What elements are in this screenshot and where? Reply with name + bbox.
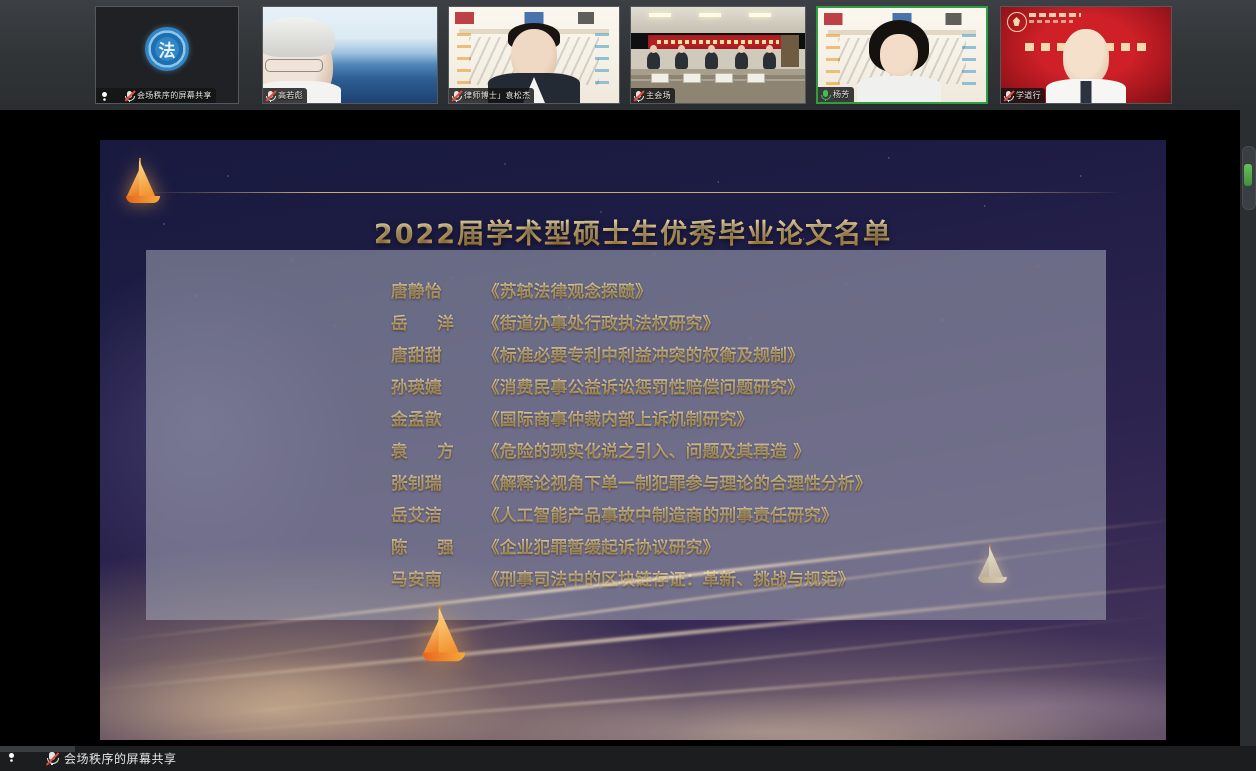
participant-name-3: 律师博士」袁松杰 xyxy=(464,90,530,101)
participant-namebar-5: 杨芳 xyxy=(818,87,854,102)
thesis-title: 《街道办事处行政执法权研究》 xyxy=(483,310,720,334)
presentation-slide: 2022届学术型硕士生优秀毕业论文名单 唐静怡 《苏轼法律观念探赜》 岳 洋 xyxy=(100,140,1166,740)
list-item: 岳 洋 《街道办事处行政执法权研究》 xyxy=(391,310,1096,342)
participant-filmstrip: 会场秩序的屏幕共享 高若彪 xyxy=(0,0,1256,110)
participant-namebar-6: 学道行 xyxy=(1001,88,1045,103)
mic-muted-icon xyxy=(45,751,59,766)
bottom-status-inner: 会场秩序的屏幕共享 xyxy=(0,746,177,771)
school-emblem-icon xyxy=(1007,12,1027,32)
screen-share-letterbox: 2022届学术型硕士生优秀毕业论文名单 唐静怡 《苏轼法律观念探赜》 岳 洋 xyxy=(0,110,1240,746)
thesis-title: 《苏轼法律观念探赜》 xyxy=(483,278,652,302)
student-name: 袁 方 xyxy=(391,438,483,462)
participant-tile-6[interactable]: 学道行 xyxy=(1000,6,1172,104)
student-name: 唐甜甜 xyxy=(391,342,483,366)
thesis-title: 《危险的现实化说之引入、问题及其再造 》 xyxy=(483,438,810,462)
list-item: 唐甜甜 《标准必要专利中利益冲突的权衡及规制》 xyxy=(391,342,1096,374)
host-badge-icon xyxy=(5,751,20,766)
list-item: 孙瑛婕 《消费民事公益诉讼惩罚性赔偿问题研究》 xyxy=(391,374,1096,406)
thesis-title: 《国际商事仲裁内部上诉机制研究》 xyxy=(483,406,753,430)
scroll-position-indicator xyxy=(1244,164,1252,186)
thesis-title: 《标准必要专利中利益冲突的权衡及规制》 xyxy=(483,342,804,366)
student-name: 张钊瑞 xyxy=(391,470,483,494)
mic-muted-icon xyxy=(633,90,644,101)
right-scrollbar[interactable] xyxy=(1240,110,1256,746)
participant-tile-2[interactable]: 高若彪 xyxy=(262,6,438,104)
student-name: 岳 洋 xyxy=(391,310,483,334)
slide-title: 2022届学术型硕士生优秀毕业论文名单 xyxy=(100,212,1166,251)
participant-namebar-3: 律师博士」袁松杰 xyxy=(449,88,534,103)
participant-tile-3[interactable]: 律师博士」袁松杰 xyxy=(448,6,620,104)
screen-share-status-label: 会场秩序的屏幕共享 xyxy=(64,750,177,767)
mic-muted-icon xyxy=(1003,90,1014,101)
student-name: 唐静怡 xyxy=(391,278,483,302)
participant-namebar-2: 高若彪 xyxy=(263,88,307,103)
participant-name-5: 杨芳 xyxy=(833,89,850,100)
mic-muted-icon xyxy=(451,90,462,101)
host-badge-icon xyxy=(98,90,109,101)
screen-share-icon xyxy=(111,90,122,101)
bottom-status-bar: 会场秩序的屏幕共享 xyxy=(0,746,1256,771)
gold-dust-decor xyxy=(100,530,1166,740)
university-emblem-icon xyxy=(145,27,189,71)
student-name: 孙瑛婕 xyxy=(391,374,483,398)
participant-namebar-1: 会场秩序的屏幕共享 xyxy=(96,88,216,103)
thesis-title: 《消费民事公益诉讼惩罚性赔偿问题研究》 xyxy=(483,374,804,398)
participant-tile-1[interactable]: 会场秩序的屏幕共享 xyxy=(95,6,239,104)
slide-title-wrap: 2022届学术型硕士生优秀毕业论文名单 xyxy=(100,176,1166,216)
participant-tile-5[interactable]: 杨芳 xyxy=(816,6,988,104)
list-item: 袁 方 《危险的现实化说之引入、问题及其再造 》 xyxy=(391,438,1096,470)
participant-namebar-4: 主会场 xyxy=(631,88,675,103)
thesis-title: 《解释论视角下单一制犯罪参与理论的合理性分析》 xyxy=(483,470,872,494)
list-item: 金孟歆 《国际商事仲裁内部上诉机制研究》 xyxy=(391,406,1096,438)
participant-name-6: 学道行 xyxy=(1016,90,1041,101)
mic-muted-icon xyxy=(265,90,276,101)
screen-share-icon xyxy=(25,752,40,766)
shared-screen-stage: 2022届学术型硕士生优秀毕业论文名单 唐静怡 《苏轼法律观念探赜》 岳 洋 xyxy=(0,110,1256,746)
list-item: 张钊瑞 《解释论视角下单一制犯罪参与理论的合理性分析》 xyxy=(391,470,1096,502)
student-name: 金孟歆 xyxy=(391,406,483,430)
list-item: 唐静怡 《苏轼法律观念探赜》 xyxy=(391,278,1096,310)
participant-tile-4[interactable]: 主会场 xyxy=(630,6,806,104)
participant-name-4: 主会场 xyxy=(646,90,671,101)
participant-name-1: 会场秩序的屏幕共享 xyxy=(137,90,212,101)
participant-name-2: 高若彪 xyxy=(278,90,303,101)
mic-muted-icon xyxy=(124,90,135,101)
mic-unmuted-icon xyxy=(820,89,831,100)
zoom-meeting-window: 会场秩序的屏幕共享 高若彪 xyxy=(0,0,1256,771)
